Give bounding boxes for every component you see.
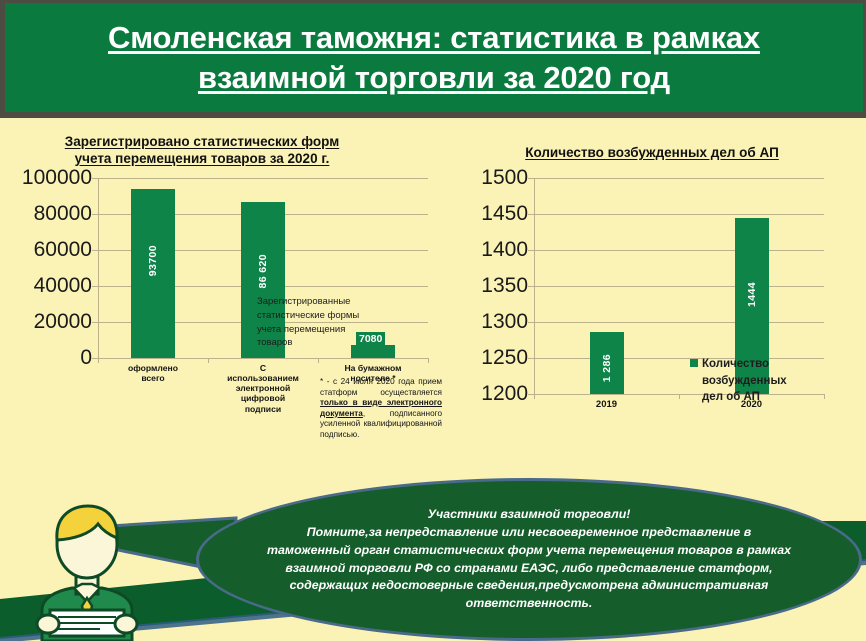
- left-chart-legend-label: Зарегистрированные статистические формы …: [257, 295, 370, 350]
- person-hand-left: [37, 615, 59, 633]
- y-axis-labels: 1200125013001350140014501500: [466, 178, 528, 394]
- y-axis-line: [534, 178, 535, 394]
- bubble-line-1: Участники взаимной торговли!: [428, 507, 631, 521]
- gridline: [534, 250, 824, 251]
- category-label-line: оформлено: [128, 363, 178, 373]
- y-axis-tick-label: 60000: [34, 238, 92, 262]
- y-axis-tick-label: 40000: [34, 274, 92, 298]
- x-axis-tick: [428, 358, 429, 363]
- category-label-line: электронной: [236, 383, 291, 393]
- x-axis-tick: [824, 394, 825, 399]
- page-title: Смоленская таможня: статистика в рамках …: [5, 18, 863, 97]
- gridline: [534, 178, 824, 179]
- x-axis-category-label: 2019: [534, 399, 679, 410]
- y-axis-tick-label: 1250: [481, 346, 528, 370]
- left-chart-legend: Зарегистрированные статистические формы …: [245, 295, 370, 350]
- gridline: [534, 286, 824, 287]
- bubble-line-2: Помните,за непредставление или несвоевре…: [307, 525, 752, 539]
- person-hand-right: [115, 615, 137, 633]
- category-label-line: использованием: [227, 373, 299, 383]
- bar-value-label: 93700: [147, 245, 159, 276]
- category-label-line: 2019: [596, 399, 617, 410]
- x-axis-category-label: Сиспользованиемэлектроннойцифровойподпис…: [208, 363, 318, 414]
- left-chart-title-line1: Зарегистрировано статистических форм: [65, 134, 339, 149]
- gridline: [98, 178, 428, 179]
- page-header: Смоленская таможня: статистика в рамках …: [0, 0, 866, 118]
- y-axis-line: [98, 178, 99, 358]
- right-chart-legend-label: Количество возбужденных дел об АП: [702, 356, 800, 406]
- bar-value-label: 86 620: [257, 254, 269, 289]
- y-axis-tick-label: 1200: [481, 382, 528, 406]
- callout-bubble: Участники взаимной торговли! Помните,за …: [196, 478, 862, 641]
- y-axis-tick-label: 1400: [481, 238, 528, 262]
- y-axis-labels: 020000400006000080000100000: [0, 178, 92, 358]
- y-axis-tick-label: 0: [80, 346, 92, 370]
- y-axis-tick-label: 1350: [481, 274, 528, 298]
- y-axis-tick-label: 1450: [481, 202, 528, 226]
- left-chart-panel: Зарегистрировано статистических форм уче…: [0, 134, 452, 474]
- category-label-line: подписи: [245, 404, 281, 414]
- left-chart-title-line2: учета перемещения товаров за 2020 г.: [75, 151, 330, 166]
- gridline: [534, 322, 824, 323]
- right-chart-legend: Количество возбужденных дел об АП: [690, 356, 800, 406]
- gridline: [534, 214, 824, 215]
- right-chart-panel: Количество возбужденных дел об АП 120012…: [452, 134, 866, 464]
- y-axis-tick-label: 80000: [34, 202, 92, 226]
- footnote-part-1: * - с 24 июля 2020 года прием статформ о…: [320, 377, 442, 397]
- bubble-line-4: взаимной торговли РФ со странами ЕАЭС, л…: [285, 561, 772, 575]
- bubble-line-5: содержащих недостоверные сведения,предус…: [290, 578, 769, 592]
- callout-bubble-text: Участники взаимной торговли! Помните,за …: [225, 506, 833, 614]
- left-chart-footnote: * - с 24 июля 2020 года прием статформ о…: [320, 377, 442, 440]
- category-label-line: всего: [141, 373, 164, 383]
- infographic-page: Смоленская таможня: статистика в рамках …: [0, 0, 866, 641]
- y-axis-tick-label: 1300: [481, 310, 528, 334]
- y-axis-tick-label: 100000: [22, 166, 92, 190]
- legend-swatch-icon: [245, 298, 253, 306]
- left-chart-title: Зарегистрировано статистических форм уче…: [22, 134, 382, 168]
- category-label-line: цифровой: [241, 393, 285, 403]
- x-axis-category-label: оформленовсего: [98, 363, 208, 383]
- category-label-line: С: [260, 363, 266, 373]
- x-axis-line: [98, 358, 428, 359]
- legend-swatch-icon: [690, 359, 698, 367]
- y-axis-tick-label: 1500: [481, 166, 528, 190]
- bubble-line-6: ответственность.: [466, 596, 593, 610]
- bar-value-label: 1444: [746, 282, 758, 307]
- bubble-line-3: таможенный орган статистических форм уче…: [267, 543, 791, 557]
- bar-value-label: 1 286: [601, 354, 613, 382]
- category-label-line: На бумажном: [344, 363, 401, 373]
- person-illustration: [12, 498, 162, 641]
- y-axis-tick-label: 20000: [34, 310, 92, 334]
- right-chart-title: Количество возбужденных дел об АП: [452, 145, 852, 162]
